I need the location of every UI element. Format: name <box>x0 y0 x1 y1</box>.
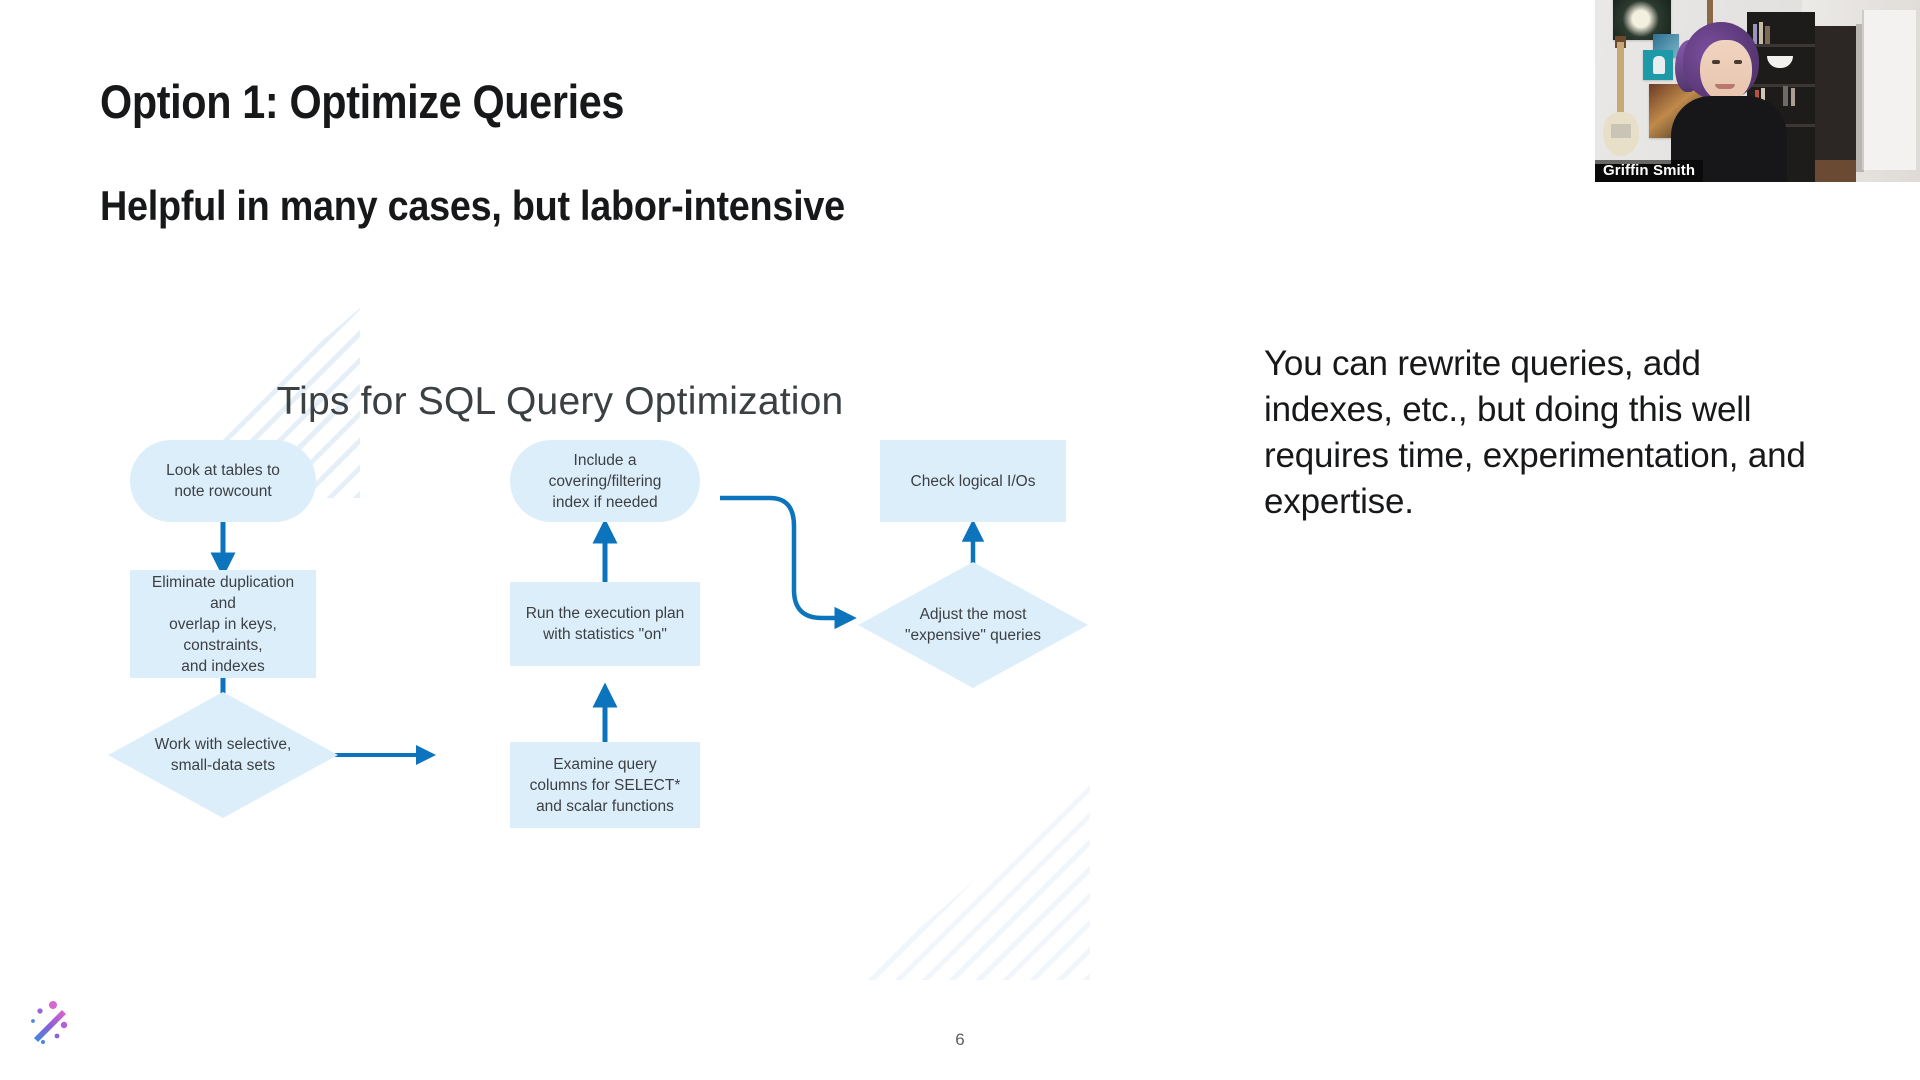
page-subtitle: Helpful in many cases, but labor-intensi… <box>100 182 845 230</box>
webcam-wall-art-robot-figure <box>1653 56 1665 74</box>
body-paragraph: You can rewrite queries, add indexes, et… <box>1264 341 1834 525</box>
webcam-shelf-divider <box>1747 44 1815 47</box>
webcam-bowl <box>1767 56 1793 68</box>
webcam-door <box>1862 10 1916 170</box>
webcam-video-tile[interactable]: Griffin Smith <box>1595 0 1920 182</box>
flowchart-node-adjust-expensive-queries: Adjust the most "expensive" queries <box>858 562 1088 688</box>
flowchart-node-check-logical-ios: Check logical I/Os <box>880 440 1066 522</box>
webcam-guitar-neck <box>1617 42 1624 118</box>
webcam-book <box>1791 88 1795 106</box>
page-number: 6 <box>0 1030 1920 1050</box>
webcam-person-eye-left <box>1712 60 1720 64</box>
page-title: Option 1: Optimize Queries <box>100 74 624 129</box>
decorative-stripes-bottom-right <box>860 780 1090 980</box>
flowchart-image: Tips for SQL Query Optimization Look at … <box>60 330 1180 970</box>
flowchart-node-include-covering-index: Include a covering/filtering index if ne… <box>510 440 700 522</box>
webcam-guitar-pickguard <box>1611 124 1631 138</box>
webcam-book <box>1765 26 1770 44</box>
flowchart-node-run-execution-plan: Run the execution plan with statistics "… <box>510 582 700 666</box>
webcam-book <box>1783 86 1788 106</box>
webcam-person-mouth <box>1715 84 1735 89</box>
webcam-person-eye-right <box>1734 60 1742 64</box>
flowchart-node-look-at-tables: Look at tables to note rowcount <box>130 440 316 522</box>
flowchart-title: Tips for SQL Query Optimization <box>60 380 1060 424</box>
flowchart-node-examine-query-columns: Examine query columns for SELECT* and sc… <box>510 742 700 828</box>
webcam-shelf-divider <box>1747 84 1815 87</box>
flowchart-node-eliminate-duplication: Eliminate duplication and overlap in key… <box>130 570 316 678</box>
webcam-participant-name: Griffin Smith <box>1595 160 1703 182</box>
webcam-person-face <box>1700 40 1752 102</box>
webcam-floor <box>1812 160 1856 182</box>
webcam-doorway <box>1812 26 1856 172</box>
flowchart-node-work-with-selective: Work with selective, small-data sets <box>108 692 338 818</box>
arrow-n6-n7 <box>720 498 850 618</box>
webcam-book <box>1759 22 1763 44</box>
